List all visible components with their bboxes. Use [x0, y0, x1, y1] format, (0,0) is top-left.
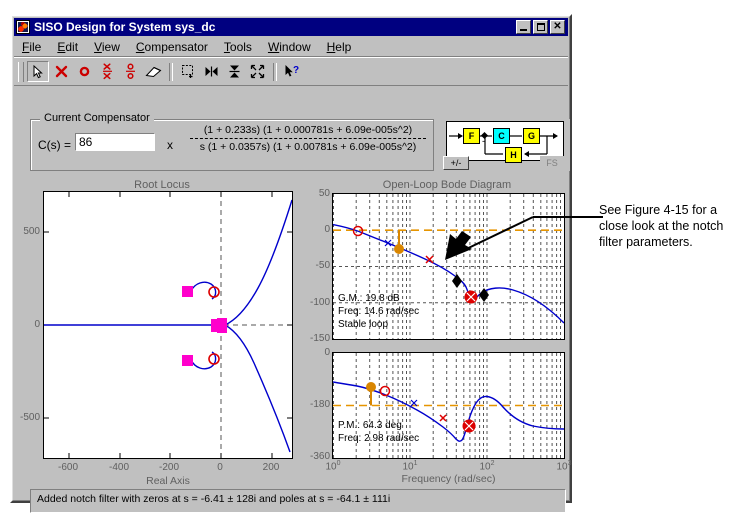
add-pole-tool[interactable] [50, 61, 72, 82]
menu-item-tools[interactable]: Tools [216, 39, 260, 55]
callout-arrow [415, 205, 605, 275]
root-locus-ytick-neg500: -500 [12, 412, 40, 423]
zoom-box-tool[interactable] [177, 61, 199, 82]
zoom-x-tool[interactable] [200, 61, 222, 82]
toolbar-separator-1 [169, 63, 173, 81]
menu-label-compensator: ompensator [145, 40, 208, 54]
block-f[interactable]: F [463, 128, 480, 144]
bode-xtick-4-exp: 3 [568, 460, 572, 467]
add-zero-pair-tool[interactable] [119, 61, 141, 82]
root-locus-axes[interactable] [43, 191, 293, 459]
gain-margin-freq-text: Freq: 14.6 rad/sec [338, 306, 419, 318]
arrow-icon [32, 65, 45, 79]
fs-label: FS [540, 156, 564, 170]
menu-item-compensator[interactable]: Compensator [128, 39, 216, 55]
zoom-fit-tool[interactable] [246, 61, 268, 82]
zoom-y-tool[interactable] [223, 61, 245, 82]
fit-icon [250, 64, 265, 79]
bode-mag-ytick-neg50: -50 [297, 260, 330, 271]
zoom-box-icon [181, 64, 196, 79]
tf-fraction-bar [190, 138, 426, 139]
bode-xtick-4-base: 10 [556, 461, 567, 472]
root-locus-xtick-neg200: -200 [149, 462, 189, 473]
stability-text: Stable loop [338, 319, 388, 331]
bode-xtick-2: 101 [397, 460, 423, 472]
phase-margin-text: P.M.: 64.3 deg [338, 420, 402, 432]
root-locus-xtick-neg600: -600 [48, 462, 88, 473]
bode-xaxis-label: Frequency (rad/sec) [332, 473, 565, 485]
bode-xtick-3: 102 [474, 460, 500, 472]
eraser-icon [145, 65, 162, 78]
minimize-button[interactable] [516, 20, 531, 34]
menu-item-edit[interactable]: Edit [49, 39, 86, 55]
x-over-x-icon [101, 63, 114, 80]
cs-label: C(s) = [38, 138, 71, 152]
erase-tool[interactable] [142, 61, 164, 82]
bode-xtick-1-exp: 0 [337, 460, 341, 467]
o-icon [78, 65, 91, 78]
zoom-y-icon [228, 64, 241, 79]
callout-line-1: See Figure 4-15 for a [599, 202, 747, 218]
feedback-block-diagram: F C G H - +/- FS [442, 119, 570, 171]
bode-xtick-4: 103 [551, 460, 577, 472]
status-message: Added notch filter with zeros at s = -6.… [37, 493, 390, 505]
gain-margin-text: G.M.: 19.8 dB [338, 293, 400, 305]
tf-numerator: (1 + 0.233s) (1 + 0.000781s + 6.09e-005s… [188, 124, 428, 136]
menu-label-file: ile [29, 40, 41, 54]
phase-margin-freq-text: Freq: 2.98 rad/sec [338, 433, 419, 445]
menu-item-help[interactable]: Help [319, 39, 360, 55]
menu-label-edit: dit [65, 40, 78, 54]
add-zero-tool[interactable] [73, 61, 95, 82]
bode-mag-ytick-neg100: -100 [297, 297, 330, 308]
block-g[interactable]: G [523, 128, 540, 144]
bode-xtick-1-base: 10 [325, 461, 336, 472]
root-locus-ytick-0: 0 [12, 319, 40, 330]
menu-label-tools: ools [230, 40, 252, 54]
toolbar: ? [14, 57, 568, 86]
figure-callout-text: See Figure 4-15 for a close look at the … [599, 202, 747, 250]
menu-item-file[interactable]: File [14, 39, 49, 55]
gain-input[interactable]: 86 [75, 133, 155, 151]
status-bar: Added notch filter with zeros at s = -6.… [30, 489, 566, 513]
root-locus-xaxis-label: Real Axis [43, 475, 293, 487]
callout-line-2: close look at the notch [599, 218, 747, 234]
bode-xtick-1: 100 [320, 460, 346, 472]
screenshot-root: SISO Design for System sys_dc ✕ File Edi… [0, 0, 750, 517]
menu-label-help: elp [335, 40, 351, 54]
x-icon [55, 65, 68, 78]
bode-xtick-2-base: 10 [402, 461, 413, 472]
root-locus-xtick-200: 200 [251, 462, 291, 473]
feedback-sign-label: - [482, 136, 485, 146]
root-locus-xtick-0: 0 [200, 462, 240, 473]
select-arrow-tool[interactable] [27, 61, 49, 82]
multiply-symbol: x [167, 138, 173, 152]
close-icon[interactable]: ✕ [550, 20, 565, 34]
bode-xtick-3-base: 10 [479, 461, 490, 472]
callout-line-3: filter parameters. [599, 234, 747, 250]
maximize-button[interactable] [533, 20, 548, 34]
toolbar-grip[interactable] [18, 62, 24, 82]
block-diagram-canvas: F C G H - [446, 121, 564, 161]
bode-phase-ytick-0: 0 [300, 347, 330, 358]
menu-item-window[interactable]: Window [260, 39, 319, 55]
root-locus-plot [44, 192, 292, 458]
bode-xtick-3-exp: 2 [491, 460, 495, 467]
block-h[interactable]: H [505, 147, 522, 163]
root-locus-ytick-500: 500 [12, 226, 40, 237]
context-help-tool[interactable]: ? [281, 61, 303, 82]
block-c[interactable]: C [493, 128, 510, 144]
menu-item-view[interactable]: View [86, 39, 128, 55]
bode-xtick-2-exp: 1 [414, 460, 418, 467]
bode-title: Open-Loop Bode Diagram [322, 179, 572, 191]
bode-mag-ytick-neg150: -150 [297, 333, 330, 344]
bode-mag-ytick-0: 0 [300, 224, 330, 235]
svg-text:?: ? [293, 65, 299, 76]
root-locus-xtick-neg400: -400 [99, 462, 139, 473]
sign-toggle-button[interactable]: +/- [443, 156, 469, 170]
tf-denominator: s (1 + 0.0357s) (1 + 0.00781s + 6.09e-00… [188, 141, 428, 153]
toolbar-separator-2 [273, 63, 277, 81]
window-controls: ✕ [516, 20, 566, 34]
bode-phase-ytick-neg180: -180 [295, 399, 330, 410]
bode-mag-ytick-50: 50 [300, 188, 330, 199]
title-bar: SISO Design for System sys_dc ✕ [14, 18, 568, 36]
compensator-transfer-function: (1 + 0.233s) (1 + 0.000781s + 6.09e-005s… [188, 124, 428, 153]
root-locus-title: Root Locus [32, 179, 292, 191]
o-over-o-icon [124, 63, 137, 80]
help-arrow-icon: ? [284, 64, 301, 79]
menu-bar: File Edit View Compensator Tools Window … [14, 37, 568, 57]
menu-label-view: iew [102, 40, 120, 54]
add-pole-pair-tool[interactable] [96, 61, 118, 82]
current-compensator-title: Current Compensator [40, 112, 154, 124]
window-title: SISO Design for System sys_dc [34, 20, 215, 34]
menu-label-window: indow [279, 40, 310, 54]
matlab-icon [16, 20, 30, 34]
zoom-x-icon [204, 65, 219, 78]
